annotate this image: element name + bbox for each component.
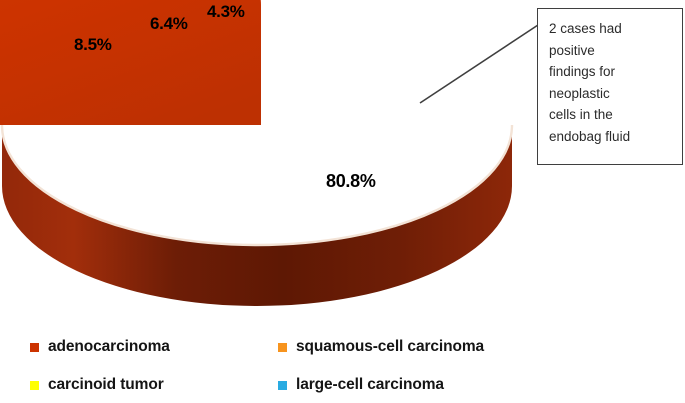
legend-swatch-icon xyxy=(30,381,39,390)
endobag-callout-box: 2 cases had positive findings for neopla… xyxy=(537,8,683,165)
slice-label-large-cell-carcinoma: 4.3% xyxy=(207,2,245,22)
slice-label-adenocarcinoma: 80.8% xyxy=(326,171,376,192)
legend-label-adenocarcinoma: adenocarcinoma xyxy=(48,338,170,356)
legend-swatch-icon xyxy=(30,343,39,352)
pie-chart-figure: 80.8% 8.5% 6.4% 4.3% 2 cases had positiv… xyxy=(0,0,685,403)
legend-item-large-cell-carcinoma[interactable]: large-cell carcinoma xyxy=(278,376,444,394)
slice-adenocarcinoma-side xyxy=(2,125,512,306)
callout-line-2: positive xyxy=(549,40,674,62)
chart-legend: adenocarcinoma squamous-cell carcinoma c… xyxy=(0,332,685,403)
legend-swatch-icon xyxy=(278,343,287,352)
legend-label-carcinoid-tumor: carcinoid tumor xyxy=(48,376,164,394)
callout-line-3: findings for xyxy=(549,61,674,83)
legend-item-squamous-cell-carcinoma[interactable]: squamous-cell carcinoma xyxy=(278,338,484,356)
legend-swatch-icon xyxy=(278,381,287,390)
slice-label-squamous-cell: 8.5% xyxy=(74,35,112,55)
legend-label-squamous-cell-carcinoma: squamous-cell carcinoma xyxy=(296,338,484,356)
callout-line-1: 2 cases had xyxy=(549,18,674,40)
callout-line-4: neoplastic xyxy=(549,83,674,105)
legend-label-large-cell-carcinoma: large-cell carcinoma xyxy=(296,376,444,394)
legend-item-adenocarcinoma[interactable]: adenocarcinoma xyxy=(30,338,170,356)
slice-label-carcinoid-tumor: 6.4% xyxy=(150,14,188,34)
callout-line-5: cells in the xyxy=(549,104,674,126)
legend-item-carcinoid-tumor[interactable]: carcinoid tumor xyxy=(30,376,164,394)
callout-line-6: endobag fluid xyxy=(549,126,674,148)
